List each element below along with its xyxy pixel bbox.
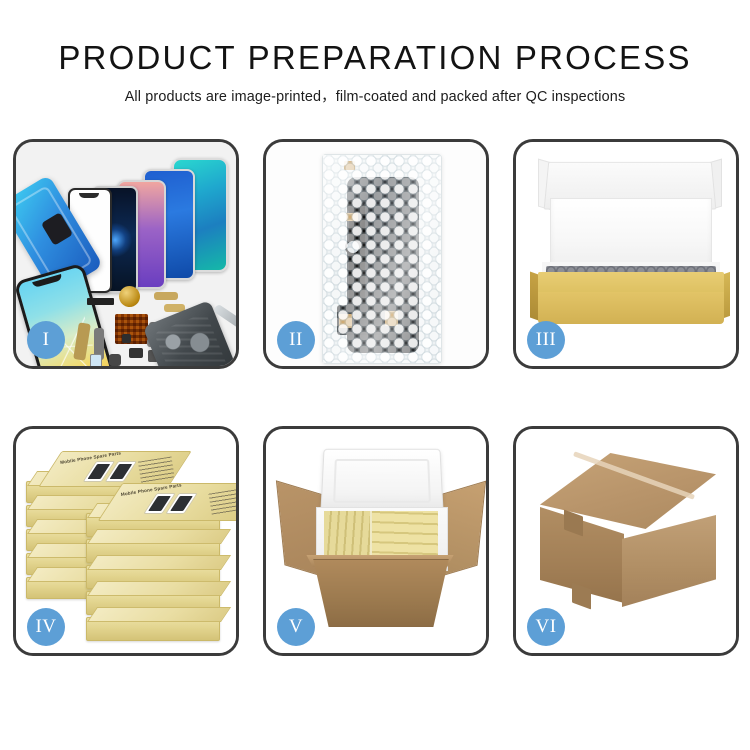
process-step-panel-3: III: [513, 139, 739, 369]
packed-yellow-boxes: [324, 511, 438, 561]
printed-box-lid-front: Mobile Phone Spare Parts: [98, 483, 236, 521]
stacked-box-front-5: [86, 617, 220, 641]
part-earpiece-speaker: [87, 298, 114, 305]
tape-strip-mid: [346, 213, 358, 221]
part-flex-cable-a: [154, 292, 178, 300]
kraft-box-front-panel: [538, 292, 724, 324]
page-subtitle: All products are image-printed，film-coat…: [0, 76, 750, 106]
tape-strip-bottom-right: [385, 311, 398, 326]
part-chip-d: [122, 334, 131, 343]
process-step-panel-1: I: [13, 139, 239, 369]
process-step-panel-6: VI: [513, 426, 739, 656]
thumbnail-screen-image: [110, 464, 133, 479]
part-sim-tray: [90, 354, 102, 366]
part-chip-c: [109, 354, 121, 366]
carton-body: [304, 559, 458, 627]
yellow-box-group-left: [324, 511, 370, 561]
yellow-box-group-right: [372, 511, 438, 561]
box-top-face: [87, 607, 231, 622]
page-title: PRODUCT PREPARATION PROCESS: [0, 0, 750, 76]
box-top-face: [87, 529, 231, 544]
step-badge-3: III: [527, 321, 565, 359]
foam-box-lid: [320, 449, 443, 513]
process-step-panel-5: V: [263, 426, 489, 656]
process-step-grid: I II: [13, 139, 737, 656]
printed-box-lid-back: Mobile Phone Spare Parts: [38, 451, 191, 487]
part-chip-a: [129, 348, 143, 358]
step-badge-4: IV: [27, 608, 65, 646]
box-top-face: [87, 555, 231, 570]
part-screw-tray: [115, 314, 148, 344]
step-badge-2: II: [277, 321, 315, 359]
part-vibration-motor: [119, 286, 140, 307]
thumbnail-screen-image: [170, 496, 193, 511]
box-checklist-lines-back: [138, 456, 175, 483]
process-step-panel-4: Mobile Phone Spare Parts Mobile Phone Sp…: [13, 426, 239, 656]
box-checklist-lines-front: [208, 488, 236, 515]
screen-sensor-dot: [345, 239, 361, 255]
screen-camera-hole: [347, 199, 362, 214]
tape-strip-bottom-left: [339, 314, 352, 328]
tape-strip-top: [344, 161, 355, 170]
box-top-face: [87, 581, 231, 596]
step-badge-1: I: [27, 321, 65, 359]
process-step-panel-2: II: [263, 139, 489, 369]
step-badge-6: VI: [527, 608, 565, 646]
page-header: PRODUCT PREPARATION PROCESS All products…: [0, 0, 750, 106]
step-badge-5: V: [277, 608, 315, 646]
bubble-wrap-bag: [322, 154, 442, 364]
